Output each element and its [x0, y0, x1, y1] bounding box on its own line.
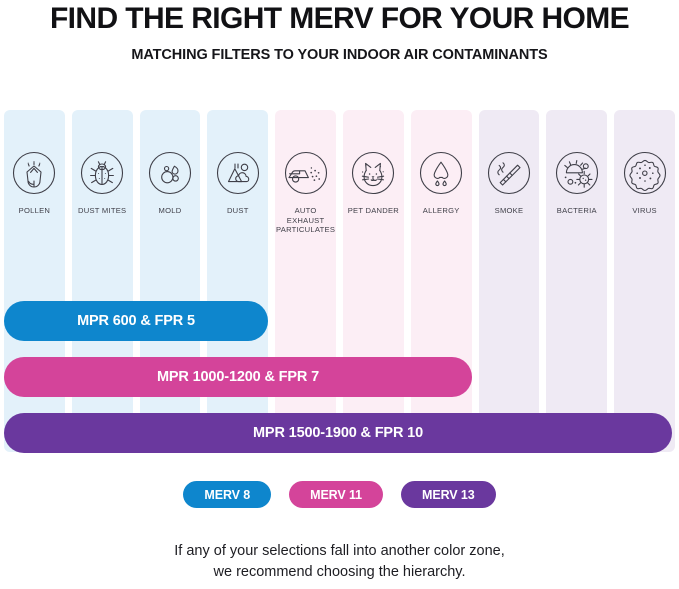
contaminant-column-dust-mites[interactable]: DUST MITES — [72, 110, 133, 452]
mpr-bar-merv13[interactable]: MPR 1500-1900 & FPR 10 — [4, 413, 672, 453]
contaminant-column-virus[interactable]: VIRUS — [614, 110, 675, 452]
virus-icon — [620, 148, 670, 198]
contaminant-label: POLLEN — [4, 206, 65, 216]
dust-mite-bug-icon — [77, 148, 127, 198]
legend-pill-label: MERV 11 — [310, 488, 362, 502]
infographic-root: FIND THE RIGHT MERV FOR YOUR HOME MATCHI… — [0, 0, 679, 589]
mpr-bar-label: MPR 1000-1200 & FPR 7 — [157, 369, 319, 385]
cigarette-smoke-icon — [484, 148, 534, 198]
contaminant-label: MOLD — [140, 206, 201, 216]
page-title: FIND THE RIGHT MERV FOR YOUR HOME — [0, 2, 679, 36]
car-exhaust-icon — [281, 148, 331, 198]
legend-pill-merv11[interactable]: MERV 11 — [289, 481, 383, 508]
cat-face-icon — [348, 148, 398, 198]
contaminant-columns: POLLEN — [4, 110, 675, 452]
contaminant-column-mold[interactable]: MOLD — [140, 110, 201, 452]
mpr-bar-merv8[interactable]: MPR 600 & FPR 5 — [4, 301, 268, 341]
contaminant-column-auto-exhaust[interactable]: AUTO EXHAUST PARTICULATES — [275, 110, 336, 452]
contaminant-column-allergy[interactable]: ALLERGY — [411, 110, 472, 452]
mpr-bar-label: MPR 600 & FPR 5 — [77, 313, 195, 329]
legend-pill-merv8[interactable]: MERV 8 — [183, 481, 271, 508]
mold-spores-icon — [145, 148, 195, 198]
contaminant-column-dust[interactable]: DUST — [207, 110, 268, 452]
mpr-bar-label: MPR 1500-1900 & FPR 10 — [253, 425, 423, 441]
footer-note: If any of your selections fall into anot… — [0, 541, 679, 583]
footer-line-1: If any of your selections fall into anot… — [0, 541, 679, 562]
contaminant-label: ALLERGY — [411, 206, 472, 216]
contaminant-column-pollen[interactable]: POLLEN — [4, 110, 65, 452]
contaminant-label: PET DANDER — [343, 206, 404, 216]
contaminant-label: AUTO EXHAUST PARTICULATES — [275, 206, 336, 235]
mpr-bar-merv11[interactable]: MPR 1000-1200 & FPR 7 — [4, 357, 472, 397]
dust-cloud-icon — [213, 148, 263, 198]
nose-drip-icon — [416, 148, 466, 198]
legend-pill-merv13[interactable]: MERV 13 — [401, 481, 496, 508]
footer-line-2: we recommend choosing the hierarchy. — [0, 562, 679, 583]
contaminant-column-smoke[interactable]: SMOKE — [479, 110, 540, 452]
contaminant-label: DUST — [207, 206, 268, 216]
pollen-flower-icon — [9, 148, 59, 198]
contaminant-label: DUST MITES — [72, 206, 133, 216]
bacteria-icon — [552, 148, 602, 198]
contaminant-label: SMOKE — [479, 206, 540, 216]
contaminant-label: VIRUS — [614, 206, 675, 216]
legend-pill-label: MERV 13 — [422, 488, 475, 502]
legend-pill-label: MERV 8 — [204, 488, 250, 502]
contaminant-label: BACTERIA — [546, 206, 607, 216]
merv-legend: MERV 8 MERV 11 MERV 13 — [0, 481, 679, 508]
contaminant-column-pet-dander[interactable]: PET DANDER — [343, 110, 404, 452]
page-subtitle: MATCHING FILTERS TO YOUR INDOOR AIR CONT… — [0, 47, 679, 63]
contaminant-column-bacteria[interactable]: BACTERIA — [546, 110, 607, 452]
